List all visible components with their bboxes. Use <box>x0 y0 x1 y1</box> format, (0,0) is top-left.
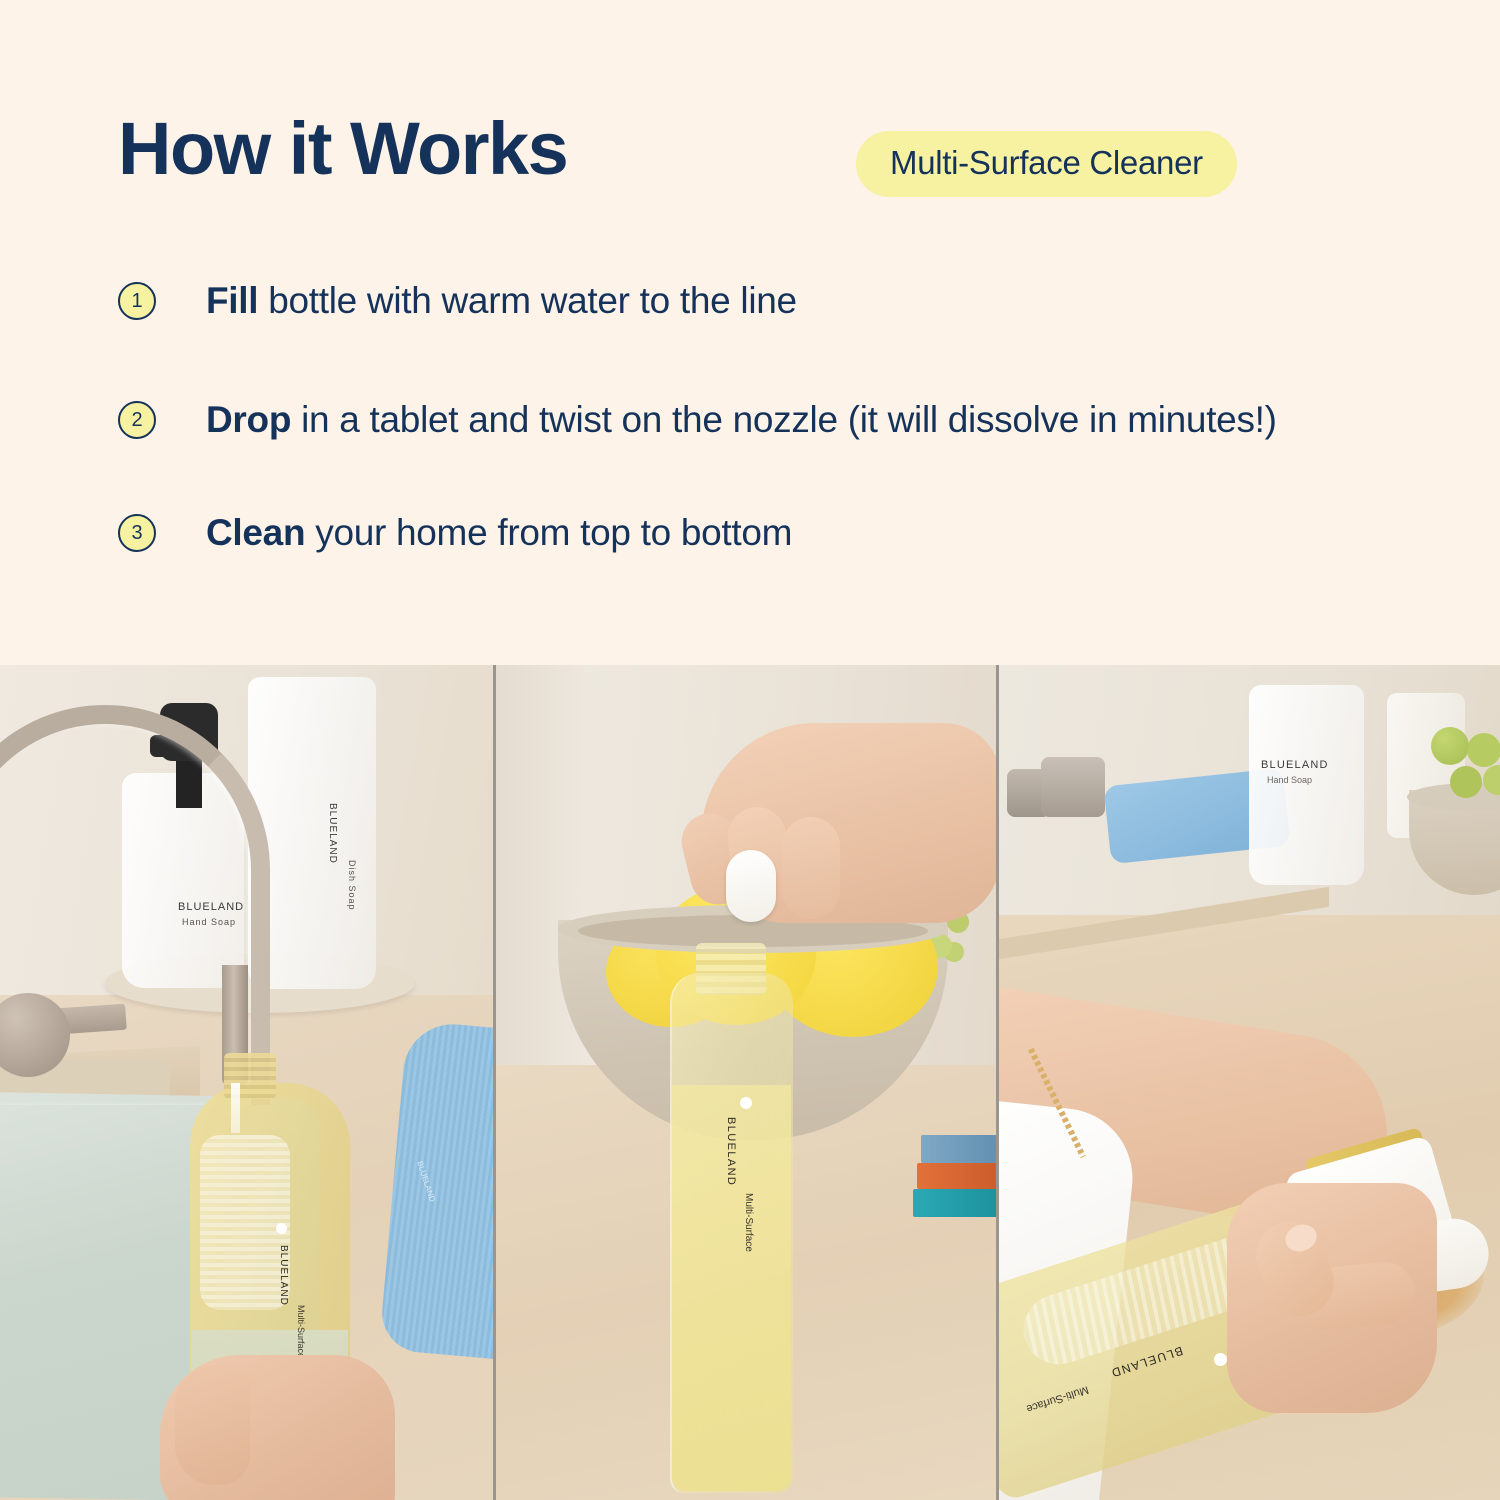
hand-soap-brand-label: BLUELAND <box>1261 759 1329 771</box>
photo-panel-drop-tablet: BLUELAND Multi-Surface <box>496 665 996 1500</box>
dish-soap-product-label: Dish Soap <box>347 860 357 911</box>
bottle-brand-label: BLUELAND <box>278 1245 289 1306</box>
hand-soap-bottle <box>1249 685 1364 885</box>
book-stack <box>921 1135 996 1245</box>
fill-line-dot <box>276 1223 287 1234</box>
step-item-2: 2 Drop in a tablet and twist on the nozz… <box>118 395 1438 445</box>
finger-ring <box>782 817 840 919</box>
dish-soap-brand-label: BLUELAND <box>327 803 338 864</box>
book-spine-orange <box>917 1163 996 1189</box>
photo-strip: BLUELAND Dish Soap BLUELAND Hand Soap BL… <box>0 665 1500 1500</box>
fill-line-dot <box>1214 1353 1227 1366</box>
bottle-foam <box>200 1135 290 1310</box>
photo-panel-twist-nozzle: BLUELAND Hand Soap BLUELAND Multi-Surfac… <box>999 665 1500 1500</box>
step-keyword-1: Fill <box>206 280 258 321</box>
wall-corner <box>496 665 586 1095</box>
step-text-3: Clean your home from top to bottom <box>206 508 792 558</box>
step-body-3: your home from top to bottom <box>305 512 792 553</box>
cleaning-tablet <box>726 850 776 922</box>
how-it-works-infographic: How it Works Multi-Surface Cleaner 1 Fil… <box>0 0 1500 1500</box>
step-number-badge-1: 1 <box>118 282 156 320</box>
step-number-badge-2: 2 <box>118 401 156 439</box>
step-keyword-3: Clean <box>206 512 305 553</box>
thumb <box>175 1365 250 1485</box>
book-spine-blue <box>921 1135 996 1163</box>
water-stream <box>231 1083 240 1133</box>
step-number-badge-3: 3 <box>118 514 156 552</box>
step-keyword-2: Drop <box>206 399 291 440</box>
step-text-1: Fill bottle with warm water to the line <box>206 276 797 326</box>
instructions-section: How it Works Multi-Surface Cleaner 1 Fil… <box>0 0 1500 665</box>
book-spine-teal <box>913 1189 996 1217</box>
green-grapes <box>1431 727 1469 765</box>
step-body-2: in a tablet and twist on the nozzle (it … <box>291 399 1277 440</box>
page-title: How it Works <box>118 112 567 186</box>
photo-panel-fill: BLUELAND Dish Soap BLUELAND Hand Soap BL… <box>0 665 493 1500</box>
bottle-brand-label: BLUELAND <box>725 1117 737 1186</box>
hand-soap-product-label: Hand Soap <box>1267 775 1312 785</box>
bottle-product-label: Multi-Surface <box>743 1193 754 1252</box>
fill-line-dot <box>740 1097 752 1109</box>
bottle-product-label: Multi-Surface <box>296 1305 306 1358</box>
steps-list: 1 Fill bottle with warm water to the lin… <box>118 276 1438 558</box>
step-body-1: bottle with warm water to the line <box>258 280 797 321</box>
step-item-3: 3 Clean your home from top to bottom <box>118 508 1438 558</box>
step-item-1: 1 Fill bottle with warm water to the lin… <box>118 276 1438 326</box>
step-text-2: Drop in a tablet and twist on the nozzle… <box>206 395 1277 445</box>
header-row: How it Works Multi-Surface Cleaner <box>118 118 1418 208</box>
faucet-knob-right <box>1041 757 1105 817</box>
product-badge: Multi-Surface Cleaner <box>856 131 1237 197</box>
